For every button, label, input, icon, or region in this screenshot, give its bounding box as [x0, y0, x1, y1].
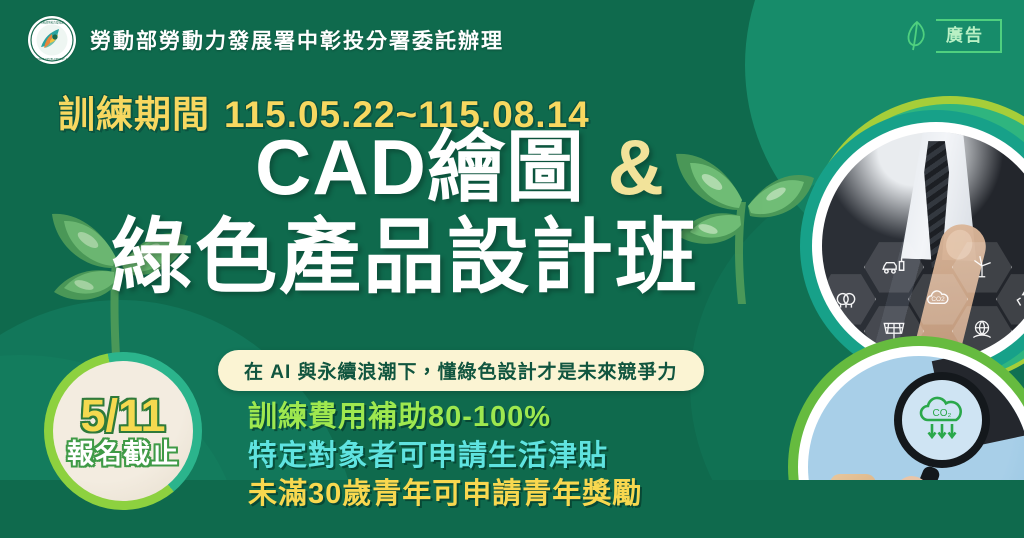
- ad-label: 廣告: [936, 19, 1002, 53]
- co2-down-arrows-icon: CO₂: [912, 394, 972, 446]
- magnifying-glass-icon: CO₂: [894, 372, 990, 468]
- benefit-list: 訓練費用補助80-100% 特定對象者可申請生活津貼 未滿30歲青年可申請青年獎…: [248, 398, 642, 514]
- deadline-inner: 5/11 報名截止: [53, 361, 193, 501]
- organization-name: 勞動部勞動力發展署中彰投分署委託辦理: [90, 25, 504, 55]
- title-line-1-main: CAD繪圖: [255, 123, 585, 211]
- co2-cloud-icon: CO2: [908, 273, 968, 325]
- svg-text:勞動部勞動力發展署: 勞動部勞動力發展署: [40, 20, 64, 24]
- title-line-2: 綠色產品設計班: [0, 216, 800, 300]
- title-ampersand: &: [608, 123, 665, 211]
- deadline-label: 報名截止: [67, 440, 179, 470]
- header: 勞動部勞動力發展署 WORKFORCE DEVELOPMENT AGENCY 勞…: [28, 16, 504, 64]
- benefit-item: 訓練費用補助80-100%: [248, 398, 642, 437]
- deadline-date: 5/11: [80, 393, 165, 438]
- ad-badge: 廣告: [905, 17, 1002, 55]
- svg-text:CO2: CO2: [931, 296, 945, 303]
- leaf-icon: [905, 20, 929, 52]
- benefit-item: 特定對象者可申請生活津貼: [248, 437, 642, 476]
- svg-text:WORKFORCE DEVELOPMENT AGENCY: WORKFORCE DEVELOPMENT AGENCY: [29, 57, 75, 61]
- subtitle-pill: 在 AI 與永續浪潮下，懂綠色設計才是未來競爭力: [218, 350, 704, 391]
- course-promotion-banner: CO2: [0, 0, 1024, 538]
- benefit-item: 未滿30歲青年可申請青年獎勵: [248, 475, 642, 514]
- cloud-drop-icon: [822, 273, 876, 325]
- page-title: CAD繪圖 & 綠色產品設計班: [0, 128, 800, 299]
- svg-text:CO₂: CO₂: [933, 408, 952, 419]
- workforce-development-agency-seal-icon: 勞動部勞動力發展署 WORKFORCE DEVELOPMENT AGENCY: [28, 16, 76, 64]
- title-line-1: CAD繪圖 &: [0, 128, 800, 208]
- deadline-badge: 5/11 報名截止: [44, 352, 202, 510]
